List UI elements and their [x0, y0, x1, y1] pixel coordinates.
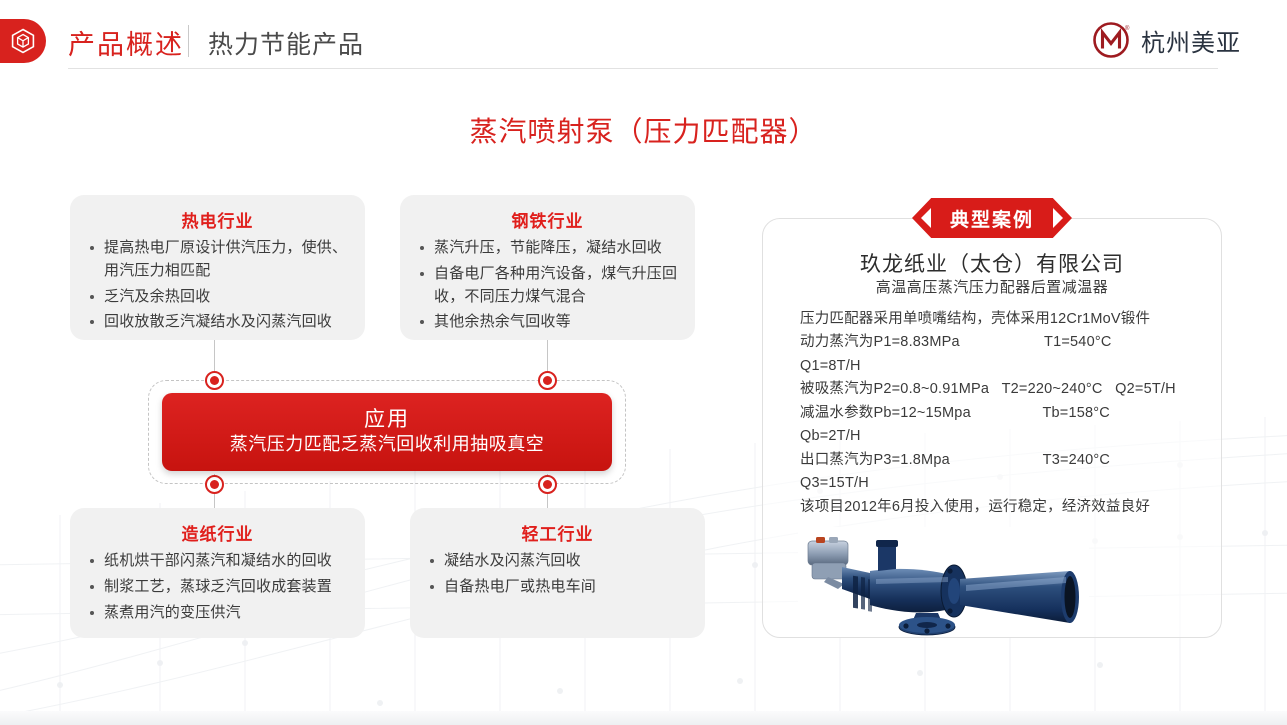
- industry-card-light-industry: 轻工行业 凝结水及闪蒸汽回收 自备热电厂或热电车间: [410, 508, 705, 638]
- slide-root: 产品概述 热力节能产品 ® 杭州美亚 蒸汽喷射泵（压力匹配器） 应用: [0, 0, 1287, 725]
- case-subtitle: 高温高压蒸汽压力配器后置减温器: [762, 276, 1222, 297]
- list-item: 凝结水及闪蒸汽回收: [426, 550, 689, 573]
- list-item: 自备电厂各种用汽设备，煤气升压回收，不同压力煤气混合: [416, 263, 679, 309]
- page-title: 产品概述: [68, 23, 184, 62]
- card-bullet-list: 凝结水及闪蒸汽回收 自备热电厂或热电车间: [426, 550, 689, 599]
- cube-hexagon-icon: [11, 28, 35, 54]
- bottom-strip: [0, 711, 1287, 725]
- case-spec-list: 压力匹配器采用单喷嘴结构，壳体采用12Cr1MoV锻件 动力蒸汽为P1=8.83…: [800, 308, 1200, 519]
- spec-line: Q3=15T/H: [800, 472, 1200, 495]
- product-photo: [798, 527, 1089, 637]
- ribbon-right-arrow-icon: [1053, 208, 1063, 228]
- node-top-right: [538, 371, 557, 390]
- node-bottom-left: [205, 475, 224, 494]
- spec-line: 动力蒸汽为P1=8.83MPa T1=540°C: [800, 331, 1200, 354]
- list-item: 纸机烘干部闪蒸汽和凝结水的回收: [86, 550, 349, 573]
- application-heading: 应用: [364, 407, 410, 433]
- svg-text:®: ®: [1125, 25, 1130, 32]
- spec-line: Q1=8T/H: [800, 355, 1200, 378]
- list-item: 提高热电厂原设计供汽压力，使供、用汽压力相匹配: [86, 237, 349, 283]
- page-header: 产品概述 热力节能产品 ® 杭州美亚: [0, 0, 1287, 80]
- spec-line: 该项目2012年6月投入使用，运行稳定，经济效益良好: [800, 496, 1200, 519]
- steam-ejector-pump-illustration: [798, 527, 1089, 637]
- card-bullet-list: 纸机烘干部闪蒸汽和凝结水的回收 制浆工艺，蒸球乏汽回收成套装置 蒸煮用汽的变压供…: [86, 550, 349, 624]
- letter-m-circle-logo-icon: ®: [1091, 19, 1133, 61]
- spec-line: Qb=2T/H: [800, 425, 1200, 448]
- case-ribbon-label: 典型案例: [950, 205, 1034, 232]
- list-item: 制浆工艺，蒸球乏汽回收成套装置: [86, 576, 349, 599]
- list-item: 乏汽及余热回收: [86, 286, 349, 309]
- card-title: 造纸行业: [86, 520, 349, 545]
- header-divider: [188, 25, 189, 57]
- node-top-left: [205, 371, 224, 390]
- list-item: 蒸汽升压，节能降压，凝结水回收: [416, 237, 679, 260]
- card-title: 钢铁行业: [416, 207, 679, 232]
- header-badge: [0, 19, 46, 63]
- list-item: 自备热电厂或热电车间: [426, 576, 689, 599]
- spec-line: 压力匹配器采用单喷嘴结构，壳体采用12Cr1MoV锻件: [800, 308, 1200, 331]
- spec-line: 被吸蒸汽为P2=0.8~0.91MPa T2=220~240°C Q2=5T/H: [800, 378, 1200, 401]
- application-subheading: 蒸汽压力匹配乏蒸汽回收利用抽吸真空: [230, 433, 545, 456]
- header-rule: [68, 68, 1218, 69]
- spec-line: 出口蒸汽为P3=1.8Mpa T3=240°C: [800, 449, 1200, 472]
- list-item: 其他余热余气回收等: [416, 311, 679, 334]
- company-name: 杭州美亚: [1141, 23, 1241, 58]
- case-company-name: 玖龙纸业（太仓）有限公司: [762, 248, 1222, 278]
- industry-card-thermal-power: 热电行业 提高热电厂原设计供汽压力，使供、用汽压力相匹配 乏汽及余热回收 回收放…: [70, 195, 365, 340]
- industry-card-papermaking: 造纸行业 纸机烘干部闪蒸汽和凝结水的回收 制浆工艺，蒸球乏汽回收成套装置 蒸煮用…: [70, 508, 365, 638]
- company-logo: ® 杭州美亚: [1091, 19, 1241, 61]
- list-item: 蒸煮用汽的变压供汽: [86, 602, 349, 625]
- card-bullet-list: 蒸汽升压，节能降压，凝结水回收 自备电厂各种用汽设备，煤气升压回收，不同压力煤气…: [416, 237, 679, 334]
- list-item: 回收放散乏汽凝结水及闪蒸汽回收: [86, 311, 349, 334]
- industry-card-steel: 钢铁行业 蒸汽升压，节能降压，凝结水回收 自备电厂各种用汽设备，煤气升压回收，不…: [400, 195, 695, 340]
- slide-heading: 蒸汽喷射泵（压力匹配器）: [0, 110, 1287, 150]
- node-bottom-right: [538, 475, 557, 494]
- spec-line: 减温水参数Pb=12~15Mpa Tb=158°C: [800, 402, 1200, 425]
- application-diagram: 应用 蒸汽压力匹配乏蒸汽回收利用抽吸真空 热电行业 提高热电厂原设计供汽压力，使…: [60, 190, 730, 660]
- application-center-box: 应用 蒸汽压力匹配乏蒸汽回收利用抽吸真空: [162, 393, 612, 471]
- page-subtitle: 热力节能产品: [208, 25, 364, 61]
- ribbon-left-arrow-icon: [921, 208, 931, 228]
- card-title: 轻工行业: [426, 520, 689, 545]
- case-ribbon-banner: 典型案例: [912, 198, 1072, 238]
- card-bullet-list: 提高热电厂原设计供汽压力，使供、用汽压力相匹配 乏汽及余热回收 回收放散乏汽凝结…: [86, 237, 349, 334]
- card-title: 热电行业: [86, 207, 349, 232]
